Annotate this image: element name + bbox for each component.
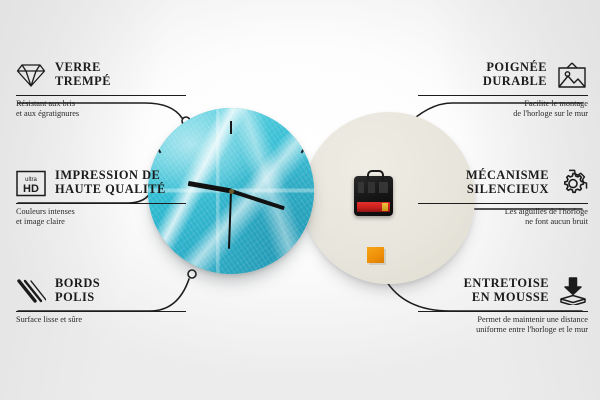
wall-hanger-frame-icon (556, 62, 588, 89)
feature-title: ENTRETOISE EN MOUSSE (464, 277, 549, 304)
feature-header: VERRE TREMPÉ (16, 58, 186, 92)
gear-icon (558, 169, 588, 198)
divider (418, 95, 588, 96)
feature-header: BORDS POLIS (16, 274, 186, 308)
polished-edges-icon (16, 278, 46, 304)
feature-entretoise-en-mousse[interactable]: ENTRETOISE EN MOUSSE Permet de maintenir… (418, 274, 588, 335)
feature-title: IMPRESSION DE HAUTE QUALITÉ (55, 169, 166, 196)
feature-subtitle: Résistant aux bris et aux égratignures (16, 99, 186, 119)
divider (16, 203, 186, 204)
feature-subtitle: Les aiguilles de l'horloge ne font aucun… (418, 207, 588, 227)
divider (418, 203, 588, 204)
feature-title: VERRE TREMPÉ (55, 61, 111, 88)
divider (16, 95, 186, 96)
motor-detail (358, 182, 388, 193)
feature-subtitle: Surface lisse et sûre (16, 315, 186, 325)
hanger-tab-icon (367, 170, 384, 180)
second-hand (228, 191, 232, 249)
feature-subtitle: Permet de maintenir une distance uniform… (418, 315, 588, 335)
feature-header: MÉCANISME SILENCIEUX (418, 166, 588, 200)
clock-movement-motor (354, 176, 393, 216)
feature-subtitle: Facilite le montage de l'horloge sur le … (418, 99, 588, 119)
divider (418, 311, 588, 312)
feature-header: ENTRETOISE EN MOUSSE (418, 274, 588, 308)
feature-header: ultra HD IMPRESSION DE HAUTE QUALITÉ (16, 166, 186, 200)
feature-impression-haute-qualite[interactable]: ultra HD IMPRESSION DE HAUTE QUALITÉ Cou… (16, 166, 186, 227)
foam-spacer (367, 247, 384, 263)
infographic-canvas: VERRE TREMPÉ Résistant aux bris et aux é… (0, 0, 600, 400)
feature-title: MÉCANISME SILENCIEUX (466, 169, 549, 196)
diamond-icon (16, 62, 46, 88)
ultra-hd-badge-icon: ultra HD (16, 170, 46, 197)
hour-marker (301, 141, 309, 153)
foam-spacer-arrow-icon (558, 277, 588, 305)
feature-title: BORDS POLIS (55, 277, 100, 304)
feature-title: POIGNÉE DURABLE (483, 61, 547, 88)
center-pin (229, 189, 234, 194)
feature-mecanisme-silencieux[interactable]: MÉCANISME SILENCIEUX Les aiguilles de l'… (418, 166, 588, 227)
battery (357, 202, 390, 212)
divider (16, 311, 186, 312)
feature-poignee-durable[interactable]: POIGNÉE DURABLE Facilite le montage de l… (418, 58, 588, 119)
minute-hand (230, 189, 284, 210)
feature-bords-polis[interactable]: BORDS POLIS Surface lisse et sûre (16, 274, 186, 325)
hour-hand (187, 181, 231, 194)
hour-marker (230, 121, 232, 134)
svg-text:HD: HD (23, 183, 39, 195)
hour-marker (153, 141, 161, 153)
feature-verre-trempe[interactable]: VERRE TREMPÉ Résistant aux bris et aux é… (16, 58, 186, 119)
feature-subtitle: Couleurs intenses et image claire (16, 207, 186, 227)
feature-header: POIGNÉE DURABLE (418, 58, 588, 92)
